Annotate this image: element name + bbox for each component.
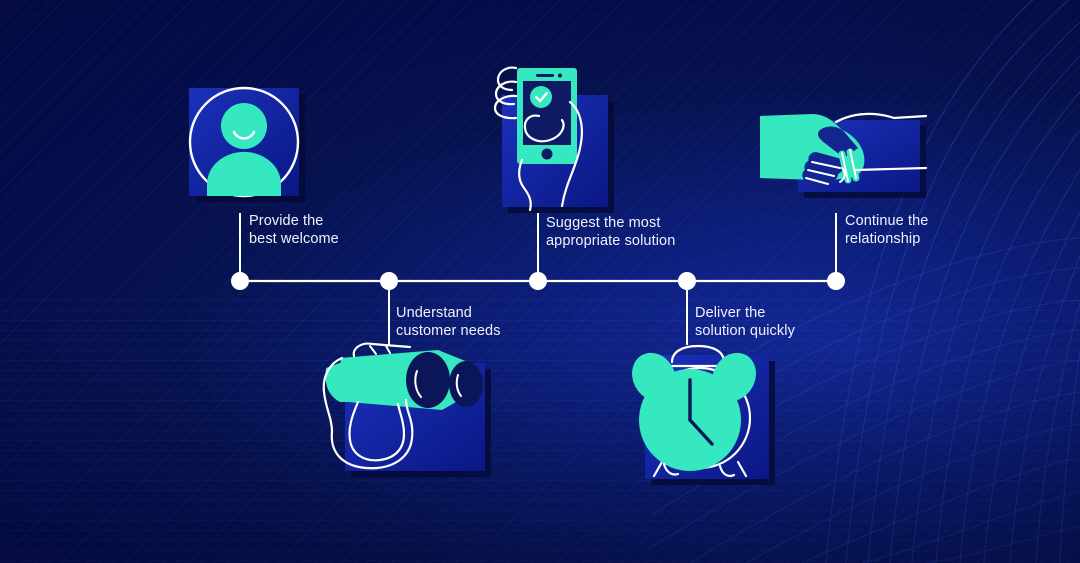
step-label-provide-welcome: Provide the best welcome (249, 213, 339, 248)
timeline-node-dot[interactable] (380, 272, 398, 290)
timeline-node-dot[interactable] (827, 272, 845, 290)
step-label-deliver-quickly: Deliver the solution quickly (695, 305, 795, 340)
timeline (0, 0, 1080, 563)
step-label-understand-needs: Understand customer needs (396, 305, 501, 340)
timeline-node-dot[interactable] (231, 272, 249, 290)
timeline-node-dot[interactable] (529, 272, 547, 290)
step-label-continue-relationship: Continue the relationship (845, 213, 928, 248)
infographic-canvas: Provide the best welcome Understand cust… (0, 0, 1080, 563)
timeline-node-dot[interactable] (678, 272, 696, 290)
step-label-suggest-solution: Suggest the most appropriate solution (546, 215, 675, 250)
